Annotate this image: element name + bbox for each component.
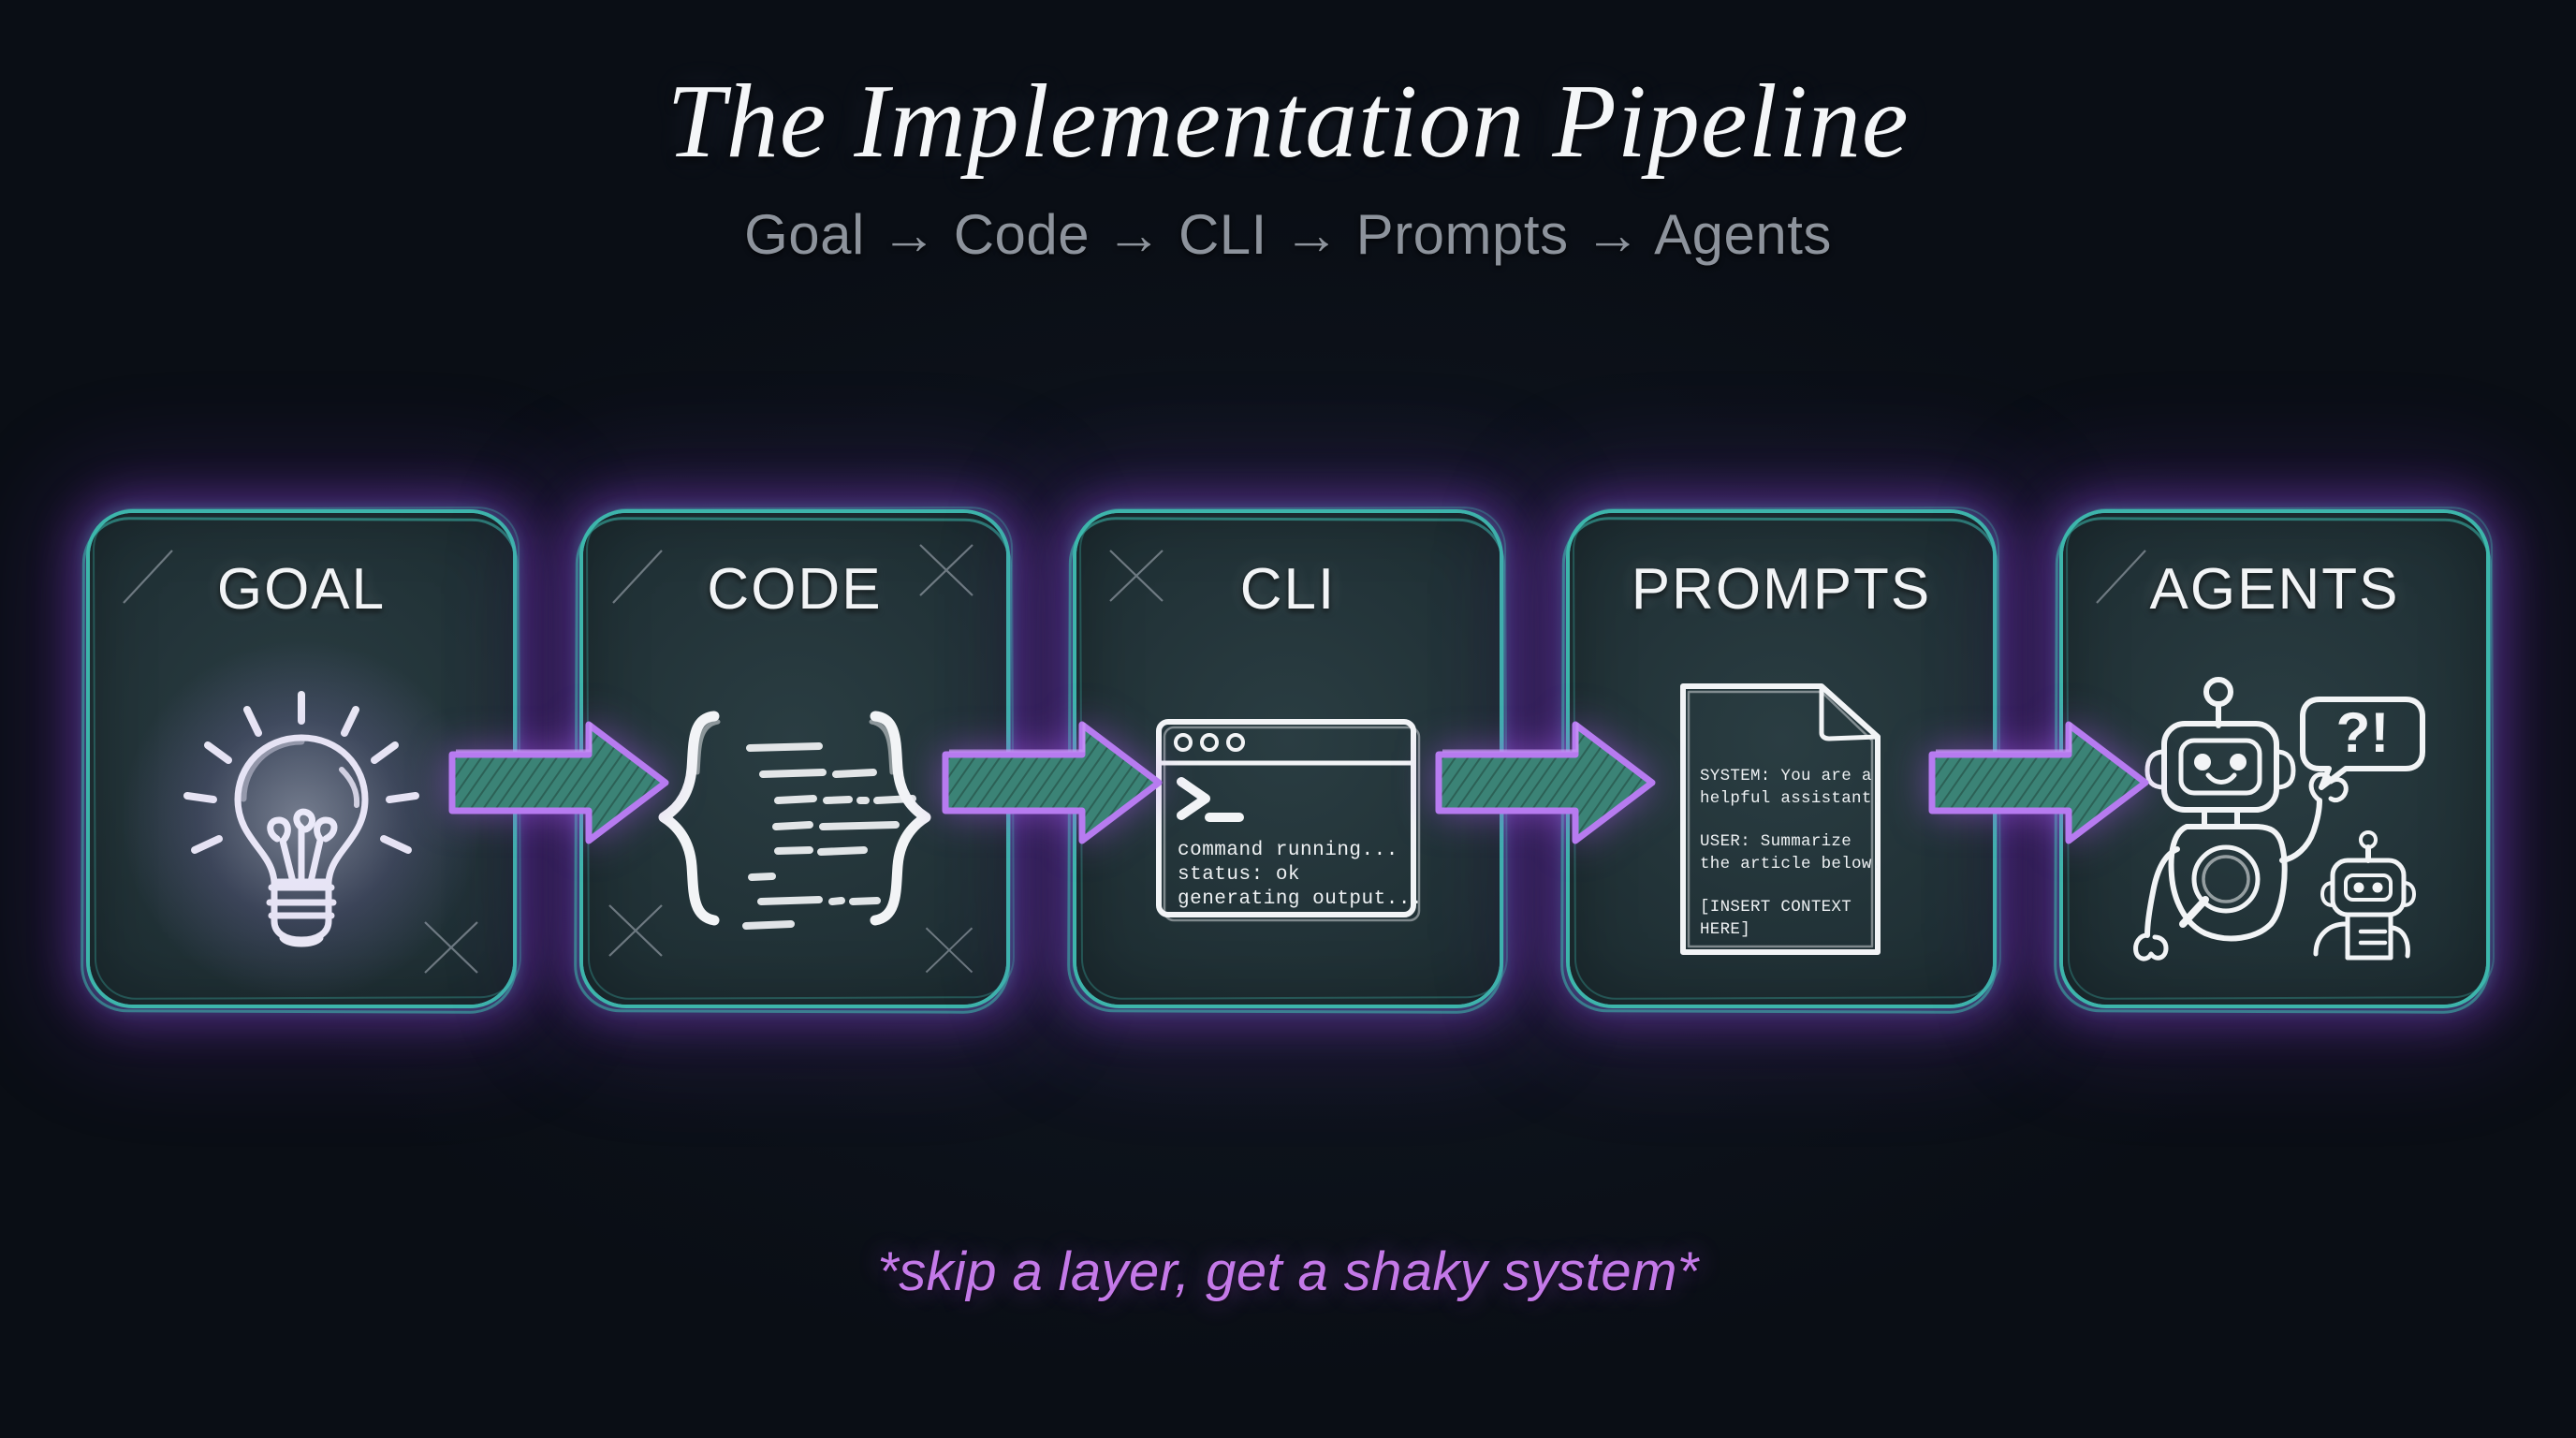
arrow-cli-prompts — [1435, 713, 1656, 852]
slide-canvas: The Implementation Pipeline Goal → Code … — [0, 0, 2576, 1438]
page-title: The Implementation Pipeline — [0, 67, 2576, 178]
robot-icon: ?! — [2115, 666, 2434, 975]
terminal-line-1: command running... — [1178, 840, 1398, 861]
terminal-window-icon: command running... status: ok generating… — [1148, 712, 1428, 928]
prompt-line-1: SYSTEM: You are a — [1700, 767, 1872, 785]
speech-bubble-text: ?! — [2336, 701, 2390, 764]
card-label-agents: AGENTS — [2063, 556, 2486, 623]
curly-braces-icon — [636, 703, 954, 937]
bulb-glow — [114, 633, 489, 1005]
card-label-cli: CLI — [1076, 556, 1500, 623]
arrow-code-cli — [942, 713, 1163, 852]
card-label-goal: GOAL — [90, 556, 513, 623]
document-page-icon: SYSTEM: You are a helpful assistant. USE… — [1664, 675, 1898, 965]
right-arrow-icon — [448, 713, 669, 852]
page-subtitle: Goal → Code → CLI → Prompts → Agents — [0, 202, 2576, 267]
footer-caption: *skip a layer, get a shaky system* — [0, 1240, 2576, 1303]
arrow-prompts-agents — [1928, 713, 2149, 852]
prompt-line-6: HERE] — [1700, 920, 1750, 939]
card-label-prompts: PROMPTS — [1570, 556, 1993, 623]
right-arrow-icon — [1928, 713, 2149, 852]
prompt-line-2: helpful assistant. — [1700, 789, 1881, 808]
right-arrow-icon — [1435, 713, 1656, 852]
terminal-line-3: generating output... — [1178, 888, 1423, 910]
arrow-goal-code — [448, 713, 669, 852]
terminal-line-2: status: ok — [1178, 864, 1300, 886]
header: The Implementation Pipeline Goal → Code … — [0, 67, 2576, 267]
right-arrow-icon — [942, 713, 1163, 852]
pipeline-row: GOAL — [90, 496, 2486, 1020]
prompt-line-4: the article below. — [1700, 855, 1881, 873]
card-label-code: CODE — [583, 556, 1006, 623]
prompt-line-5: [INSERT CONTEXT — [1700, 898, 1851, 917]
prompt-line-3: USER: Summarize — [1700, 832, 1851, 851]
